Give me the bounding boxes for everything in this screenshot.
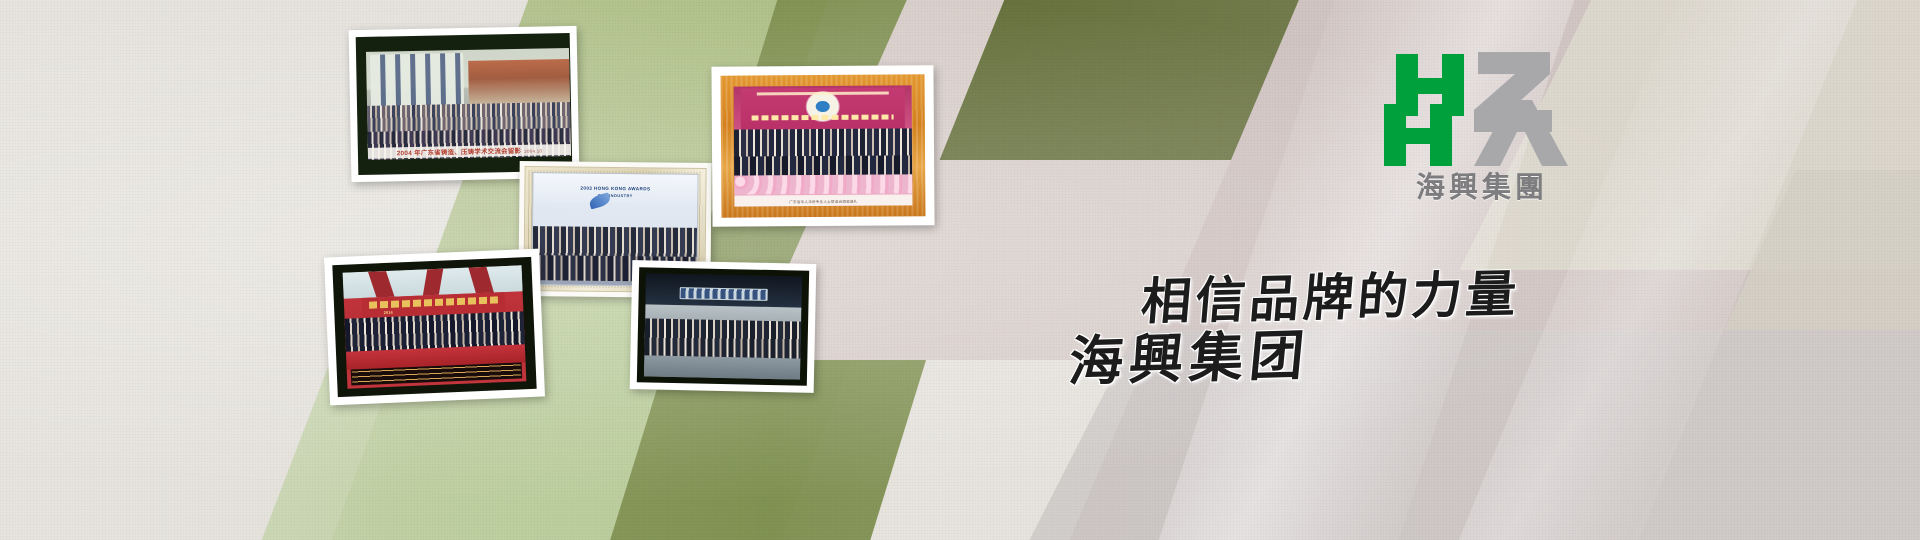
photo-image: 2014 — [343, 265, 527, 388]
flower-arrangement — [734, 174, 912, 194]
people-rows — [644, 319, 801, 359]
photo-caption: 广东省华人华侨专业人士联谊会颁奖典礼 — [734, 195, 912, 207]
photo-caption-date: 2004.10 — [524, 149, 542, 154]
photo-image — [644, 273, 802, 379]
photo-building-entrance[interactable] — [630, 260, 817, 393]
slogan-line-2: 海興集团 — [1066, 311, 1314, 397]
building-right — [468, 59, 570, 106]
award-title-line1: 2003 HONG KONG AWARDS — [580, 186, 650, 192]
photo-2014-group[interactable]: 2014 — [324, 249, 545, 406]
brand-slogan: 相信品牌的力量 海興集团 — [1060, 236, 1560, 416]
award-title: 2003 HONG KONG AWARDS FOR INDUSTRY — [580, 186, 650, 200]
hza-logo[interactable]: 海興集團 — [1382, 48, 1582, 218]
photo-image: 2004 年广东省铸造、压铸学术交流会留影2004.10 — [366, 48, 571, 160]
photo-award-ceremony[interactable]: 广东省华人华侨专业人士联谊会颁奖典礼 — [711, 65, 934, 227]
backdrop-title-line2 — [752, 114, 894, 120]
backdrop-year: 2014 — [384, 310, 393, 315]
photo-caption-text: 广东省华人华侨专业人士联谊会颁奖典礼 — [789, 200, 857, 205]
photo-image: 广东省华人华侨专业人士联谊会颁奖典礼 — [734, 85, 913, 206]
hero-banner: 2004 年广东省铸造、压铸学术交流会留影2004.10 2003 HONG K… — [0, 0, 1920, 540]
photo-2004-conference[interactable]: 2004 年广东省铸造、压铸学术交流会留影2004.10 — [349, 26, 580, 182]
building-signboard — [680, 287, 768, 300]
hza-logo-icon — [1382, 48, 1582, 168]
ground-plaza — [644, 356, 800, 380]
background-graphics — [0, 0, 1920, 540]
photo-caption-text: 2004 年广东省铸造、压铸学术交流会留影 — [397, 148, 522, 157]
logo-company-name: 海興集團 — [1382, 164, 1582, 206]
